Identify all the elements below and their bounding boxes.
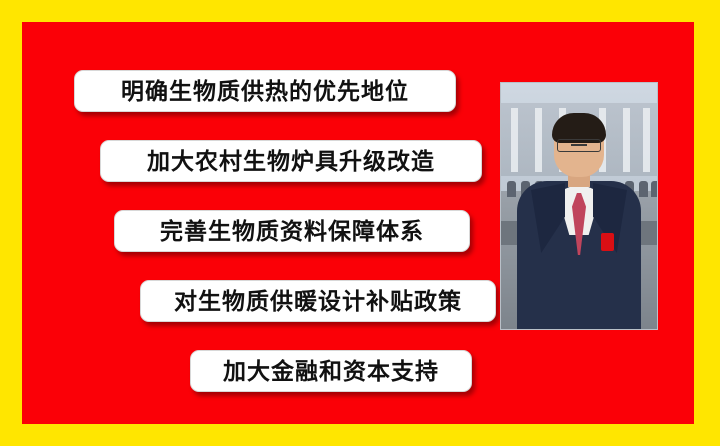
bullet-item-list: 明确生物质供热的优先地位 加大农村生物炉具升级改造 完善生物质资料保障体系 对生…	[22, 22, 522, 424]
photo-column	[643, 108, 650, 172]
photo-crowd-figure	[507, 181, 516, 197]
figure-red-badge	[601, 233, 614, 251]
list-item-label: 加大农村生物炉具升级改造	[147, 150, 435, 173]
photo-column	[511, 108, 518, 172]
list-item-label: 明确生物质供热的优先地位	[121, 80, 409, 103]
list-item[interactable]: 完善生物质资料保障体系	[114, 210, 470, 252]
portrait-photo	[500, 82, 658, 330]
list-item-label: 完善生物质资料保障体系	[160, 220, 424, 243]
list-item[interactable]: 对生物质供暖设计补贴政策	[140, 280, 496, 322]
list-item[interactable]: 加大农村生物炉具升级改造	[100, 140, 482, 182]
list-item-label: 对生物质供暖设计补贴政策	[174, 290, 462, 313]
list-item[interactable]: 加大金融和资本支持	[190, 350, 472, 392]
list-item[interactable]: 明确生物质供热的优先地位	[74, 70, 456, 112]
bottom-margin	[0, 424, 720, 446]
glasses-icon	[557, 139, 601, 152]
photo-crowd-figure	[639, 181, 648, 197]
photo-crowd-figure	[651, 181, 658, 197]
poster-canvas: 明确生物质供热的优先地位 加大农村生物炉具升级改造 完善生物质资料保障体系 对生…	[0, 0, 720, 446]
photo-column	[535, 108, 542, 172]
photo-column	[623, 108, 630, 172]
list-item-label: 加大金融和资本支持	[223, 360, 439, 383]
